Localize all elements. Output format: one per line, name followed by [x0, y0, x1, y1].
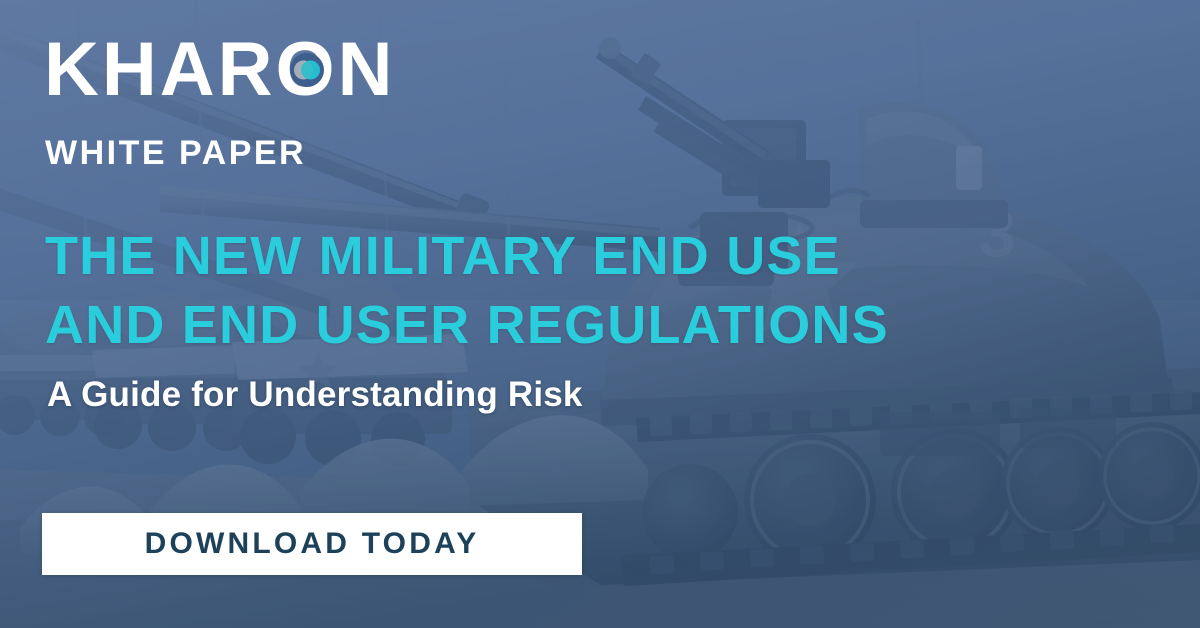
kharon-logo: KHARO N: [44, 32, 396, 108]
headline-line-2: AND END USER REGULATIONS: [45, 291, 889, 360]
subtitle: A Guide for Understanding Risk: [47, 377, 583, 412]
eyebrow-white-paper: WHITE PAPER: [45, 136, 306, 170]
headline-line-1: THE NEW MILITARY END USE: [45, 222, 889, 291]
logo-wordmark-pre: KHAR: [44, 32, 276, 108]
page-title: THE NEW MILITARY END USE AND END USER RE…: [45, 222, 889, 359]
logo-wordmark-post: N: [338, 32, 396, 108]
logo-o-letter: O: [276, 32, 338, 108]
download-today-button[interactable]: DOWNLOAD TODAY: [42, 513, 582, 575]
banner-content: KHARO N WHITE PAPER THE NEW MILITARY END…: [0, 0, 1200, 628]
kharon-circles-mark-icon: [290, 53, 324, 87]
download-today-label: DOWNLOAD TODAY: [145, 529, 480, 559]
kharon-white-paper-banner: 3: [0, 0, 1200, 628]
